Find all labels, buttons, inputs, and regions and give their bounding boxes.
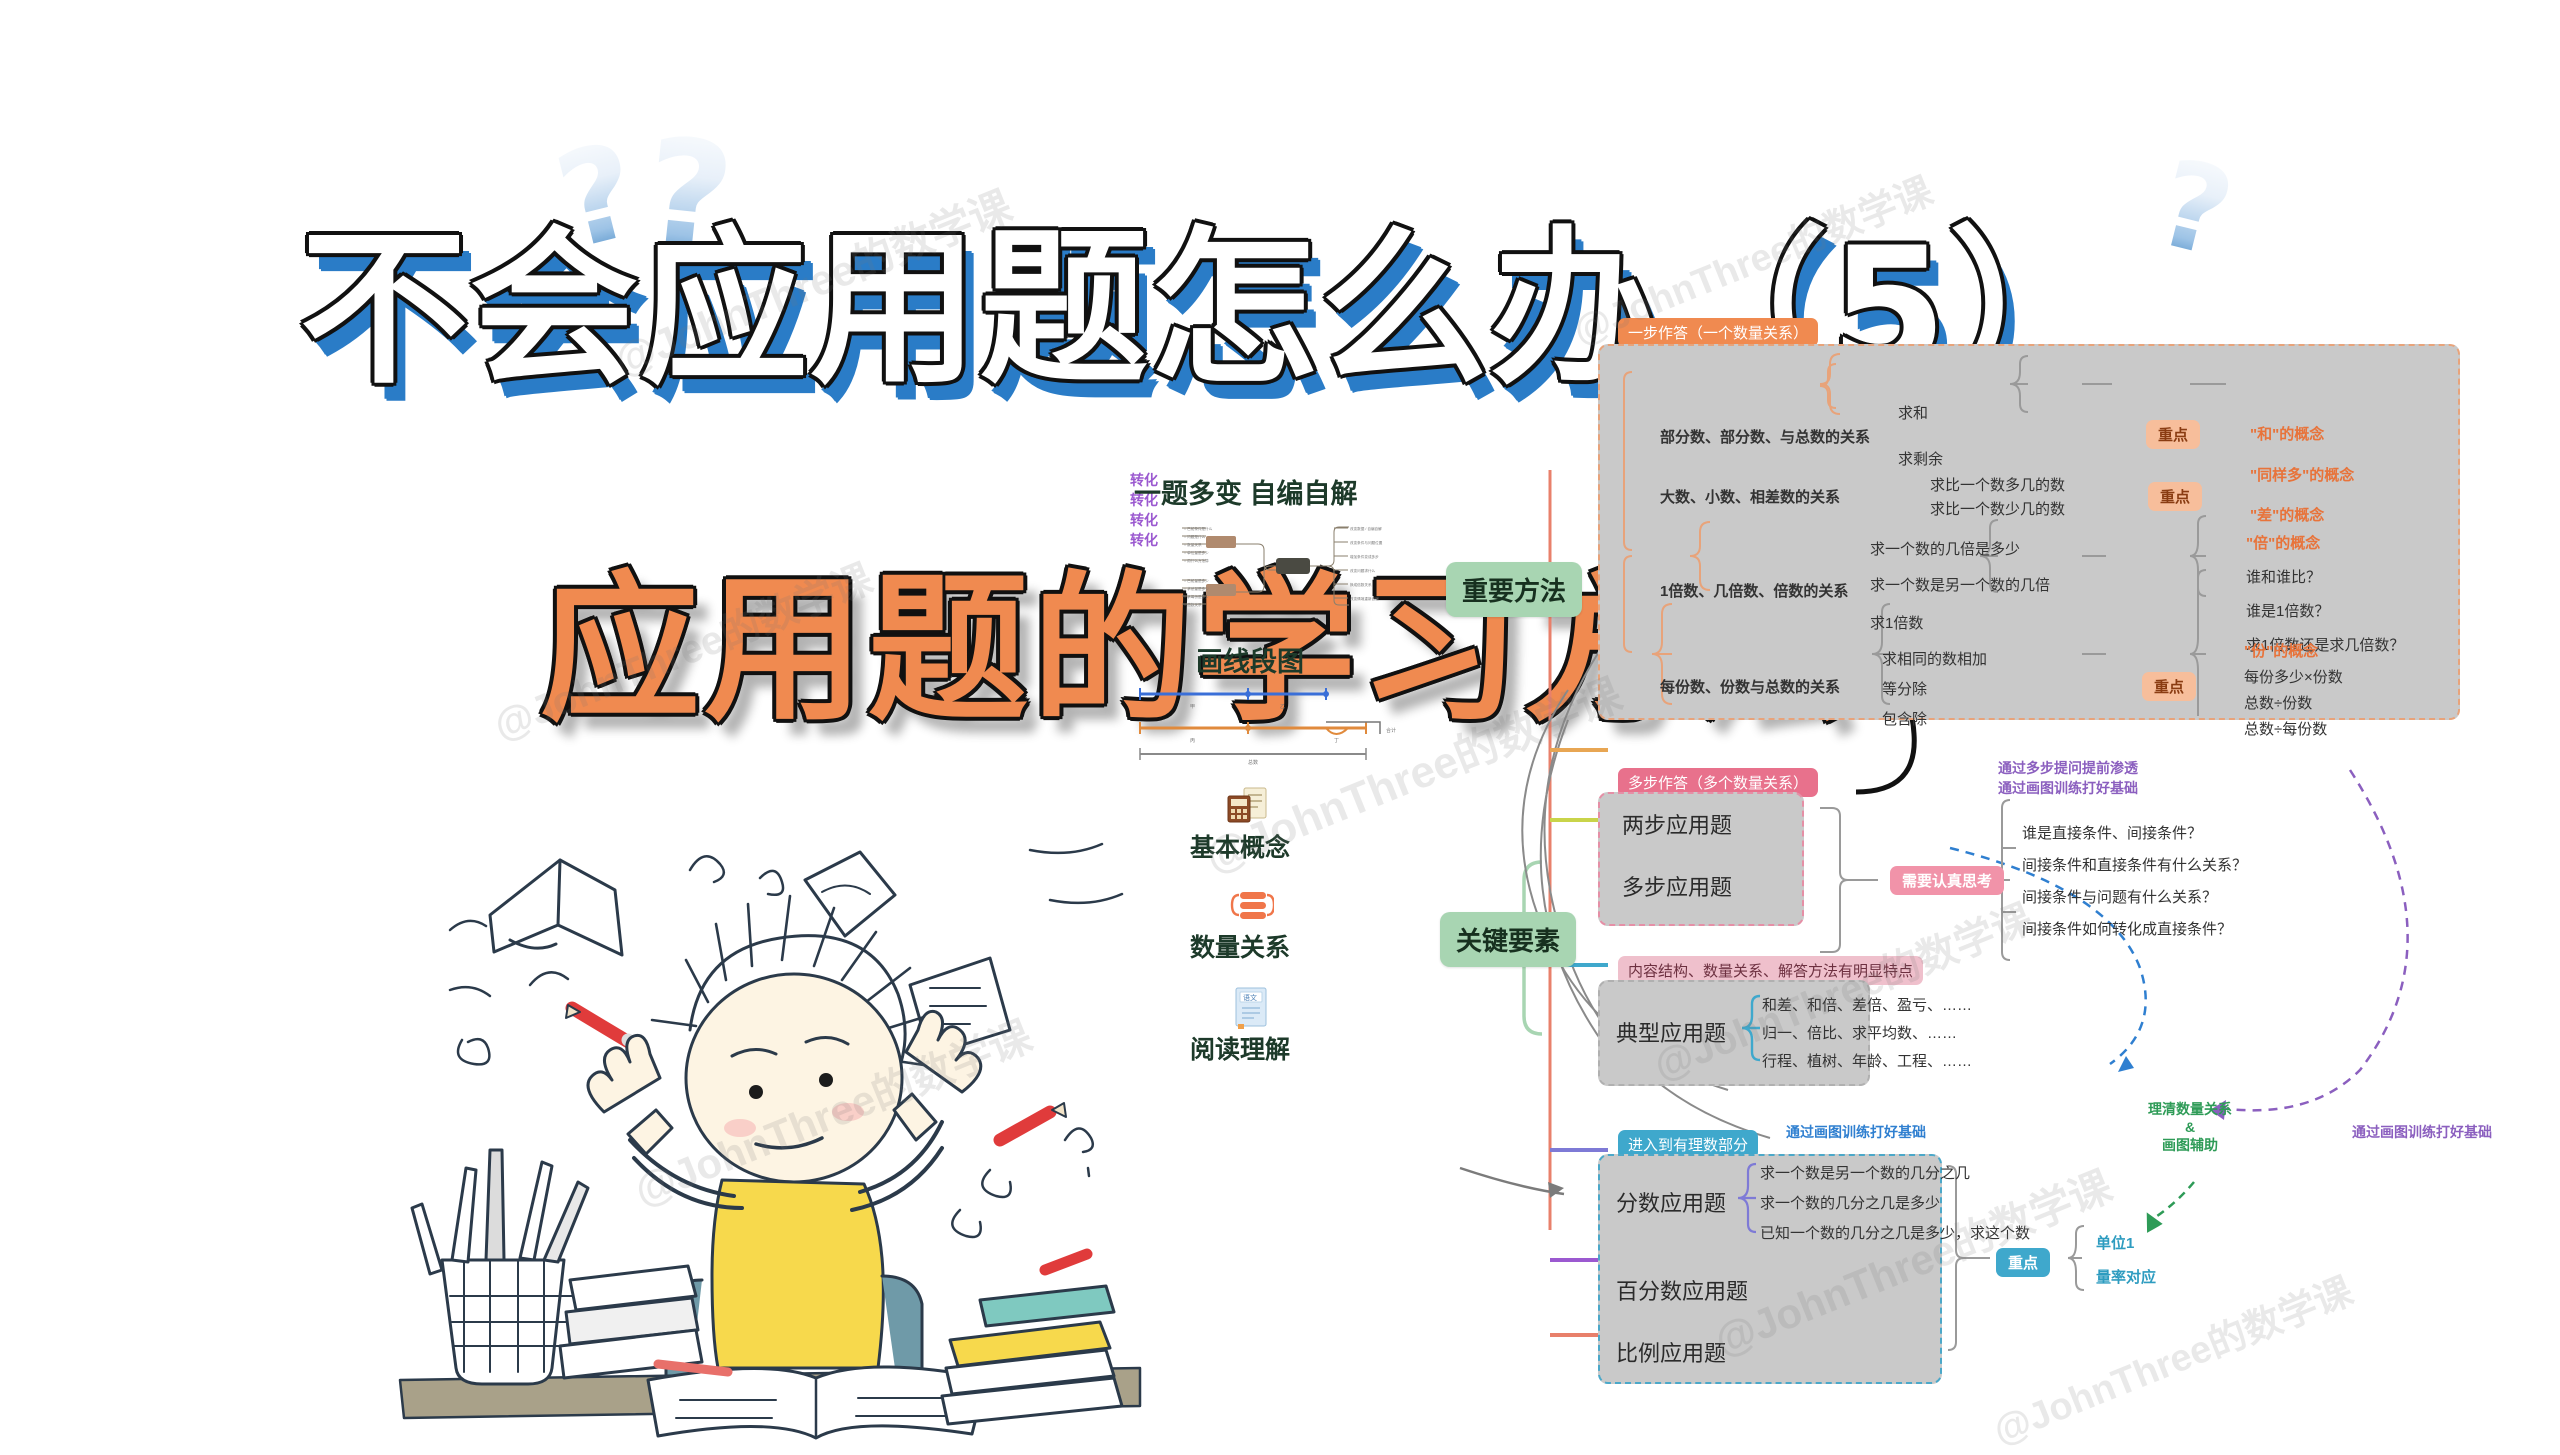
svg-text:丁: 丁 [1334, 738, 1339, 744]
one-step-row3-sub0: 求相同的数相加 [1882, 648, 1987, 669]
fraction-sub-1: 求一个数的几分之几是多少 [1760, 1192, 1940, 1213]
multi-step-item-1: 多步应用题 [1622, 870, 1732, 902]
caption-draw-line-segment-diagram: 画线段图 [1196, 640, 1304, 679]
fraction-sub-2: 已知一个数的几分之几是多少，求这个数 [1760, 1222, 2030, 1243]
svg-text:○ 倍数关系: ○ 倍数关系 [1184, 602, 1202, 607]
one-step-row2-note2: 谁是1倍数？ [2246, 600, 2329, 621]
svg-text:○ 求每份是多少: ○ 求每份是多少 [1184, 594, 1209, 599]
fraction-item-1: 百分数应用题 [1616, 1274, 1748, 1306]
svg-text:改变条件与问题位置: 改变条件与问题位置 [1350, 540, 1383, 545]
one-step-row3-note0: "份"的概念 [2244, 640, 2318, 661]
svg-text:○ 已知条件是什么: ○ 已知条件是什么 [1184, 526, 1213, 531]
one-step-row2-main: 1倍数、几倍数、倍数的关系 [1660, 580, 1848, 601]
typical-annotation-1: 通过画图训练打好基础 [2352, 1122, 2492, 1142]
one-step-row1-note1: "差"的概念 [2250, 504, 2324, 525]
one-step-row2-sub0: 求一个数的几倍是多少 [1870, 538, 2020, 559]
caption-one-problem-many-variations: 一题多变 自编自解 [1134, 472, 1358, 511]
one-step-row0-main: 部分数、部分数、与总数的关系 [1660, 426, 1870, 447]
svg-text:○ 已知量是多少: ○ 已知量是多少 [1184, 578, 1209, 583]
one-step-row3-sub1: 等分除 [1882, 678, 1927, 699]
svg-text:○ 单位量是多少: ○ 单位量是多少 [1184, 550, 1209, 555]
svg-text:○ 问题是什么: ○ 问题是什么 [1184, 534, 1206, 539]
fraction-note-1: 量率对应 [2096, 1266, 2156, 1287]
typical-annotation-2: 理清数量关系 & 画图辅助 [2148, 1100, 2232, 1155]
svg-text:○ 求总量是多少: ○ 求总量是多少 [1184, 586, 1209, 591]
fraction-badge: 重点 [1996, 1248, 2050, 1277]
fraction-note-0: 单位1 [2096, 1232, 2134, 1253]
multi-step-note-3: 间接条件如何转化成直接条件？ [2022, 918, 2232, 939]
typical-sub-0: 和差、和倍、差倍、盈亏、…… [1762, 994, 1972, 1015]
tag-one-step: 一步作答（一个数量关系） [1618, 318, 1818, 347]
svg-text:增加条件变成多步: 增加条件变成多步 [1350, 554, 1379, 559]
one-step-row2-note1: 谁和谁比？ [2246, 566, 2321, 587]
svg-text:语文: 语文 [1243, 993, 1257, 1002]
one-step-row1-note0: "同样多"的概念 [2250, 464, 2354, 485]
one-step-row0-sub0: 求和 [1898, 402, 1928, 423]
typical-annotation-0: 通过画图训练打好基础 [1786, 1122, 1926, 1142]
one-step-row3-note3: 总数÷每份数 [2244, 718, 2327, 739]
multi-step-note-2: 间接条件与问题有什么关系？ [2022, 886, 2217, 907]
one-step-row0-note0: "和"的概念 [2250, 423, 2324, 444]
mindmap: 一题多变 自编自解 [data-name="caption-one-proble… [1130, 470, 2560, 1440]
branch-key-elements[interactable]: 关键要素 [1440, 912, 1576, 967]
svg-text:○ 数量关系: ○ 数量关系 [1184, 542, 1202, 547]
one-step-row1-badge: 重点 [2148, 482, 2202, 511]
one-step-row0-badge: 重点 [2146, 420, 2200, 449]
one-step-row3-sub2: 包含除 [1882, 708, 1927, 729]
one-step-row3-badge: 重点 [2142, 672, 2196, 701]
relation-icon [1230, 888, 1274, 924]
svg-text:改变数据 / 自编自解: 改变数据 / 自编自解 [1350, 526, 1382, 531]
one-step-row2-sub2: 求1倍数 [1870, 612, 1923, 633]
multi-step-note-1: 间接条件和直接条件有什么关系？ [2022, 854, 2247, 875]
line-segment-diagram-thumbnail: 甲乙 丙丁 总数合计 [1130, 676, 1430, 766]
one-step-row0-sub1: 求剩余 [1898, 448, 1943, 469]
svg-text:改变情境重新自编: 改变情境重新自编 [1350, 596, 1379, 601]
one-step-row1-sub1: 求比一个数少几的数 [1930, 498, 2065, 519]
one-step-row3-main: 每份数、份数与总数的关系 [1660, 676, 1840, 697]
key-element-basic-concept: 基本概念 [1190, 828, 1290, 864]
one-step-row1-sub0: 求比一个数多几的数 [1930, 474, 2065, 495]
group-multi-step-connectors [1130, 770, 2560, 970]
concept-icon [1226, 786, 1270, 826]
branch-important-methods[interactable]: 重要方法 [1446, 562, 1582, 617]
multi-step-note-0: 谁是直接条件、间接条件？ [2022, 822, 2202, 843]
stressed-student-illustration [390, 740, 1150, 1440]
one-step-row3-note1: 每份多少×份数 [2244, 666, 2343, 687]
svg-text:合计: 合计 [1386, 727, 1396, 734]
reading-icon: 语文 [1232, 986, 1272, 1030]
typical-sub-2: 行程、植树、年龄、工程、…… [1762, 1050, 1972, 1071]
svg-text:○ 用什么方法算: ○ 用什么方法算 [1184, 558, 1209, 563]
typical-sub-1: 归一、倍比、求平均数、…… [1762, 1022, 1957, 1043]
svg-text:总数: 总数 [1248, 759, 1258, 766]
one-step-row1-main: 大数、小数、相差数的关系 [1660, 486, 1840, 507]
fraction-item-0: 分数应用题 [1616, 1186, 1726, 1218]
key-element-quantity-relation: 数量关系 [1190, 928, 1290, 964]
svg-text:换成倍数关系: 换成倍数关系 [1350, 582, 1372, 587]
multi-step-annotation-1: 通过画图训练打好基础 [1998, 778, 2138, 798]
thumbnail-mindmap-small: ○ 已知条件是什么○ 问题是什么 ○ 数量关系○ 单位量是多少 ○ 用什么方法算… [1148, 510, 1448, 620]
one-step-row3-note2: 总数÷份数 [2244, 692, 2312, 713]
question-mark-icon-3: ? [2144, 134, 2245, 286]
group-box-one-step [1598, 344, 2460, 720]
key-element-reading-comprehension: 阅读理解 [1190, 1030, 1290, 1066]
typical-item-0: 典型应用题 [1616, 1016, 1726, 1048]
svg-text:丙: 丙 [1190, 738, 1195, 744]
fraction-item-2: 比例应用题 [1616, 1336, 1726, 1368]
multi-step-annotation-0: 通过多步提问提前渗透 [1998, 758, 2138, 778]
fraction-sub-0: 求一个数是另一个数的几分之几 [1760, 1162, 1970, 1183]
one-step-row2-sub1: 求一个数是另一个数的几倍 [1870, 574, 2050, 595]
svg-text:改变问题求什么: 改变问题求什么 [1350, 568, 1376, 573]
svg-text:甲: 甲 [1190, 704, 1195, 710]
multi-step-badge: 需要认真思考 [1890, 866, 2004, 895]
multi-step-item-0: 两步应用题 [1622, 808, 1732, 840]
svg-text:乙: 乙 [1280, 703, 1285, 710]
one-step-row2-note0: "倍"的概念 [2246, 532, 2320, 553]
